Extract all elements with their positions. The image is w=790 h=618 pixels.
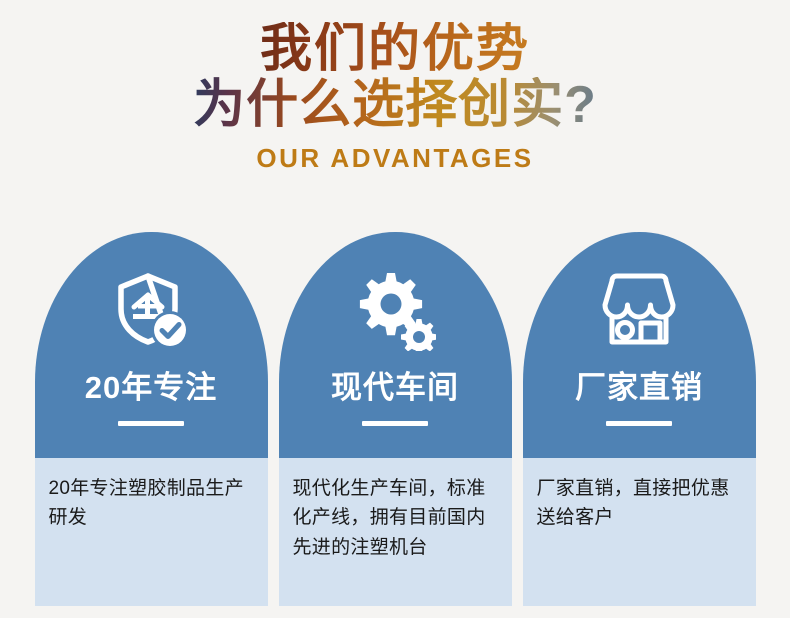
card-title: 现代车间 (331, 362, 459, 407)
page-subtitle-english: OUR ADVANTAGES (256, 143, 533, 174)
advantage-card-modern-workshop[interactable]: 现代车间 现代化生产车间，标准化产线，拥有目前国内先进的注塑机台 (279, 232, 512, 606)
card-title: 20年专注 (85, 362, 217, 407)
page-header: 我们的优势 为什么选择创实? OUR ADVANTAGES (0, 0, 790, 174)
advantage-card-factory-direct[interactable]: 厂家直销 厂家直销，直接把优惠送给客户 (523, 232, 756, 606)
shield-check-icon (110, 270, 192, 352)
card-description: 厂家直销，直接把优惠送给客户 (523, 458, 756, 606)
card-title: 厂家直销 (575, 362, 703, 407)
card-title-underline (362, 421, 428, 426)
advantage-card-years-focus[interactable]: 20年专注 20年专注塑胶制品生产研发 (35, 232, 268, 606)
card-title-underline (118, 421, 184, 426)
card-description: 现代化生产车间，标准化产线，拥有目前国内先进的注塑机台 (279, 458, 512, 606)
header-title-line-1: 我们的优势 (0, 22, 790, 79)
page-title-primary: 我们的优势 (254, 22, 536, 79)
header-title-line-2: 为什么选择创实? (0, 79, 790, 137)
card-arch-header: 厂家直销 (523, 232, 756, 458)
page-title-secondary: 为什么选择创实? (187, 77, 603, 137)
storefront-icon (596, 270, 682, 352)
card-description: 20年专注塑胶制品生产研发 (35, 458, 268, 606)
advantage-cards-row: 20年专注 20年专注塑胶制品生产研发 现代车间 (0, 232, 790, 608)
card-arch-header: 20年专注 (35, 232, 268, 458)
gears-icon (354, 270, 436, 352)
card-arch-header: 现代车间 (279, 232, 512, 458)
card-title-underline (606, 421, 672, 426)
header-subtitle-row: OUR ADVANTAGES (0, 137, 790, 174)
